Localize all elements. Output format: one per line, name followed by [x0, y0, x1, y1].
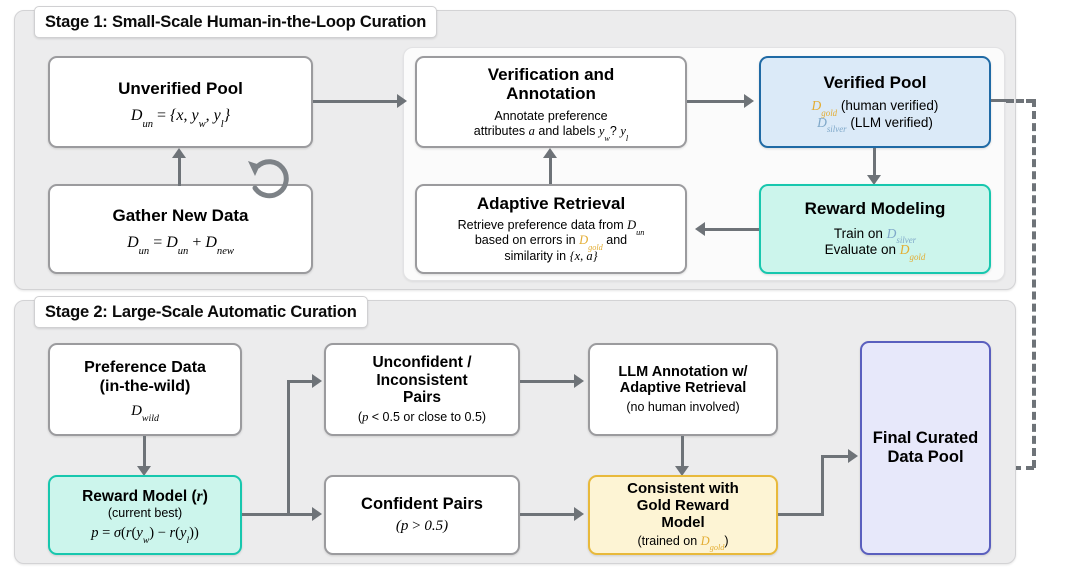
arrow-retrieval-to-verification-line — [549, 156, 552, 186]
arrow-unverified-to-verification-line — [313, 100, 399, 103]
arrow-reward-to-retrieval-line — [705, 228, 759, 231]
refresh-loop-icon — [236, 152, 300, 208]
arrow-gather-to-unverified-head — [172, 148, 186, 158]
retrieval-body2-post: and — [603, 233, 627, 247]
arrow-unverified-to-verification-head — [397, 94, 407, 108]
consistent-gold-body: (trained on Dgold) — [637, 534, 728, 549]
node-preference-data[interactable]: Preference Data (in-the-wild) Dwild — [48, 343, 242, 436]
arrow-reward-model-split-line — [242, 513, 290, 516]
reward-modeling-line1: Train on Dsilver — [834, 226, 916, 242]
node-reward-modeling[interactable]: Reward Modeling Train on Dsilver Evaluat… — [759, 184, 991, 274]
arrow-split-to-confident-head — [312, 507, 322, 521]
llm-annotation-title-line2: Adaptive Retrieval — [620, 380, 747, 396]
reward-modeling-line1-pre: Train on — [834, 226, 887, 241]
unverified-pool-title: Unverified Pool — [118, 79, 243, 98]
verified-pool-title: Verified Pool — [824, 73, 927, 92]
adaptive-retrieval-body-line2: based on errors in Dgold and — [475, 233, 627, 248]
consistent-gold-body-post: ) — [724, 534, 728, 548]
arrow-consistent-to-final-riser — [821, 455, 824, 516]
verification-body-line1: Annotate preference — [494, 109, 607, 124]
reward-model-subtitle: (current best) — [108, 506, 182, 521]
gather-new-data-formula: Dun = Dun + Dnew — [127, 234, 234, 252]
reward-model-title: Reward Model (r) — [82, 488, 208, 506]
verification-title-line1: Verification and — [488, 65, 615, 84]
node-llm-annotation[interactable]: LLM Annotation w/ Adaptive Retrieval (no… — [588, 343, 778, 436]
node-confident-pairs[interactable]: Confident Pairs (p > 0.5) — [324, 475, 520, 555]
adaptive-retrieval-body-line1: Retrieve preference data from Dun — [458, 218, 645, 233]
node-verification-and-annotation[interactable]: Verification and Annotation Annotate pre… — [415, 56, 687, 148]
unconfident-pairs-title-line3: Pairs — [403, 389, 441, 407]
verification-body-line2: attributes a and labels yw? yl — [474, 124, 628, 139]
consistent-gold-title-line2: Gold Reward — [637, 498, 730, 515]
arrow-merge-to-final-head — [848, 449, 858, 463]
llm-annotation-title-line1: LLM Annotation w/ — [618, 364, 747, 380]
arrow-split-to-unconfident-head — [312, 374, 322, 388]
adaptive-retrieval-body-line3: similarity in {x, a} — [504, 249, 597, 264]
consistent-gold-title-line3: Model — [661, 515, 704, 532]
verification-title-line2: Annotation — [506, 84, 596, 103]
llm-annotation-body: (no human involved) — [626, 400, 739, 415]
node-adaptive-retrieval[interactable]: Adaptive Retrieval Retrieve preference d… — [415, 184, 687, 274]
retrieval-body2-pre: based on errors in — [475, 233, 579, 247]
final-pool-title-line1: Final Curated — [873, 429, 978, 448]
arrow-retrieval-to-verification-head — [543, 148, 557, 158]
consistent-gold-title-line1: Consistent with — [627, 481, 739, 498]
arrow-preference-to-reward-line — [143, 436, 146, 468]
arrow-reward-to-retrieval-head — [695, 222, 705, 236]
verified-pool-line1-text: (human verified) — [837, 98, 938, 113]
confident-pairs-title: Confident Pairs — [361, 495, 483, 514]
reward-modeling-title: Reward Modeling — [805, 199, 946, 218]
preference-data-formula: Dwild — [131, 403, 159, 420]
final-pool-title-line2: Data Pool — [887, 448, 963, 467]
arrow-verification-to-verified-head — [744, 94, 754, 108]
arrow-verified-to-reward-line — [873, 148, 876, 177]
dashed-connector-horizontal — [1006, 99, 1034, 103]
node-consistent-gold-reward-model[interactable]: Consistent with Gold Reward Model (train… — [588, 475, 778, 555]
arrow-gather-to-unverified-line — [178, 156, 181, 186]
node-unconfident-pairs[interactable]: Unconfident / Inconsistent Pairs (p < 0.… — [324, 343, 520, 436]
arrow-llm-to-consistent-line — [681, 436, 684, 468]
arrow-reward-model-split-riser — [287, 380, 290, 516]
unconfident-pairs-title-line2: Inconsistent — [376, 372, 467, 390]
gather-new-data-title: Gather New Data — [112, 206, 248, 225]
confident-pairs-body: (p > 0.5) — [396, 517, 448, 535]
arrow-confident-to-consistent-line — [520, 513, 576, 516]
dashed-connector-vertical — [1032, 99, 1036, 468]
arrow-unconfident-to-llm-line — [520, 380, 576, 383]
arrow-split-to-unconfident-line — [287, 380, 314, 383]
reward-modeling-line2-pre: Evaluate on — [825, 242, 900, 257]
unverified-pool-formula: Dun = {x, yw, yl} — [131, 107, 230, 125]
arrow-unconfident-to-llm-head — [574, 374, 584, 388]
unconfident-pairs-body: (p < 0.5 or close to 0.5) — [358, 410, 486, 425]
arrow-confident-to-consistent-head — [574, 507, 584, 521]
node-verified-pool[interactable]: Verified Pool Dgold (human verified) Dsi… — [759, 56, 991, 148]
unconfident-pairs-title-line1: Unconfident / — [372, 354, 471, 372]
verified-pool-line2-text: (LLM verified) — [847, 115, 933, 130]
adaptive-retrieval-title: Adaptive Retrieval — [477, 194, 625, 213]
stage-2-title: Stage 2: Large-Scale Automatic Curation — [34, 296, 368, 328]
reward-model-formula: p = σ(r(yw) − r(yl)) — [91, 525, 199, 542]
arrow-verification-to-verified-line — [687, 100, 746, 103]
node-reward-model[interactable]: Reward Model (r) (current best) p = σ(r(… — [48, 475, 242, 555]
verified-pool-line1: Dgold (human verified) — [812, 98, 939, 114]
preference-data-title-line1: Preference Data — [84, 359, 206, 377]
arrow-split-to-confident-line — [287, 513, 314, 516]
diagram-canvas: Stage 1: Small-Scale Human-in-the-Loop C… — [0, 0, 1080, 570]
preference-data-title-line2: (in-the-wild) — [100, 378, 191, 396]
node-unverified-pool[interactable]: Unverified Pool Dun = {x, yw, yl} — [48, 56, 313, 148]
arrow-merge-to-final-line — [821, 455, 850, 458]
stage-1-title: Stage 1: Small-Scale Human-in-the-Loop C… — [34, 6, 437, 38]
node-final-curated-data-pool[interactable]: Final Curated Data Pool — [860, 341, 991, 555]
arrow-consistent-to-final-line — [778, 513, 824, 516]
consistent-gold-body-pre: (trained on — [637, 534, 700, 548]
